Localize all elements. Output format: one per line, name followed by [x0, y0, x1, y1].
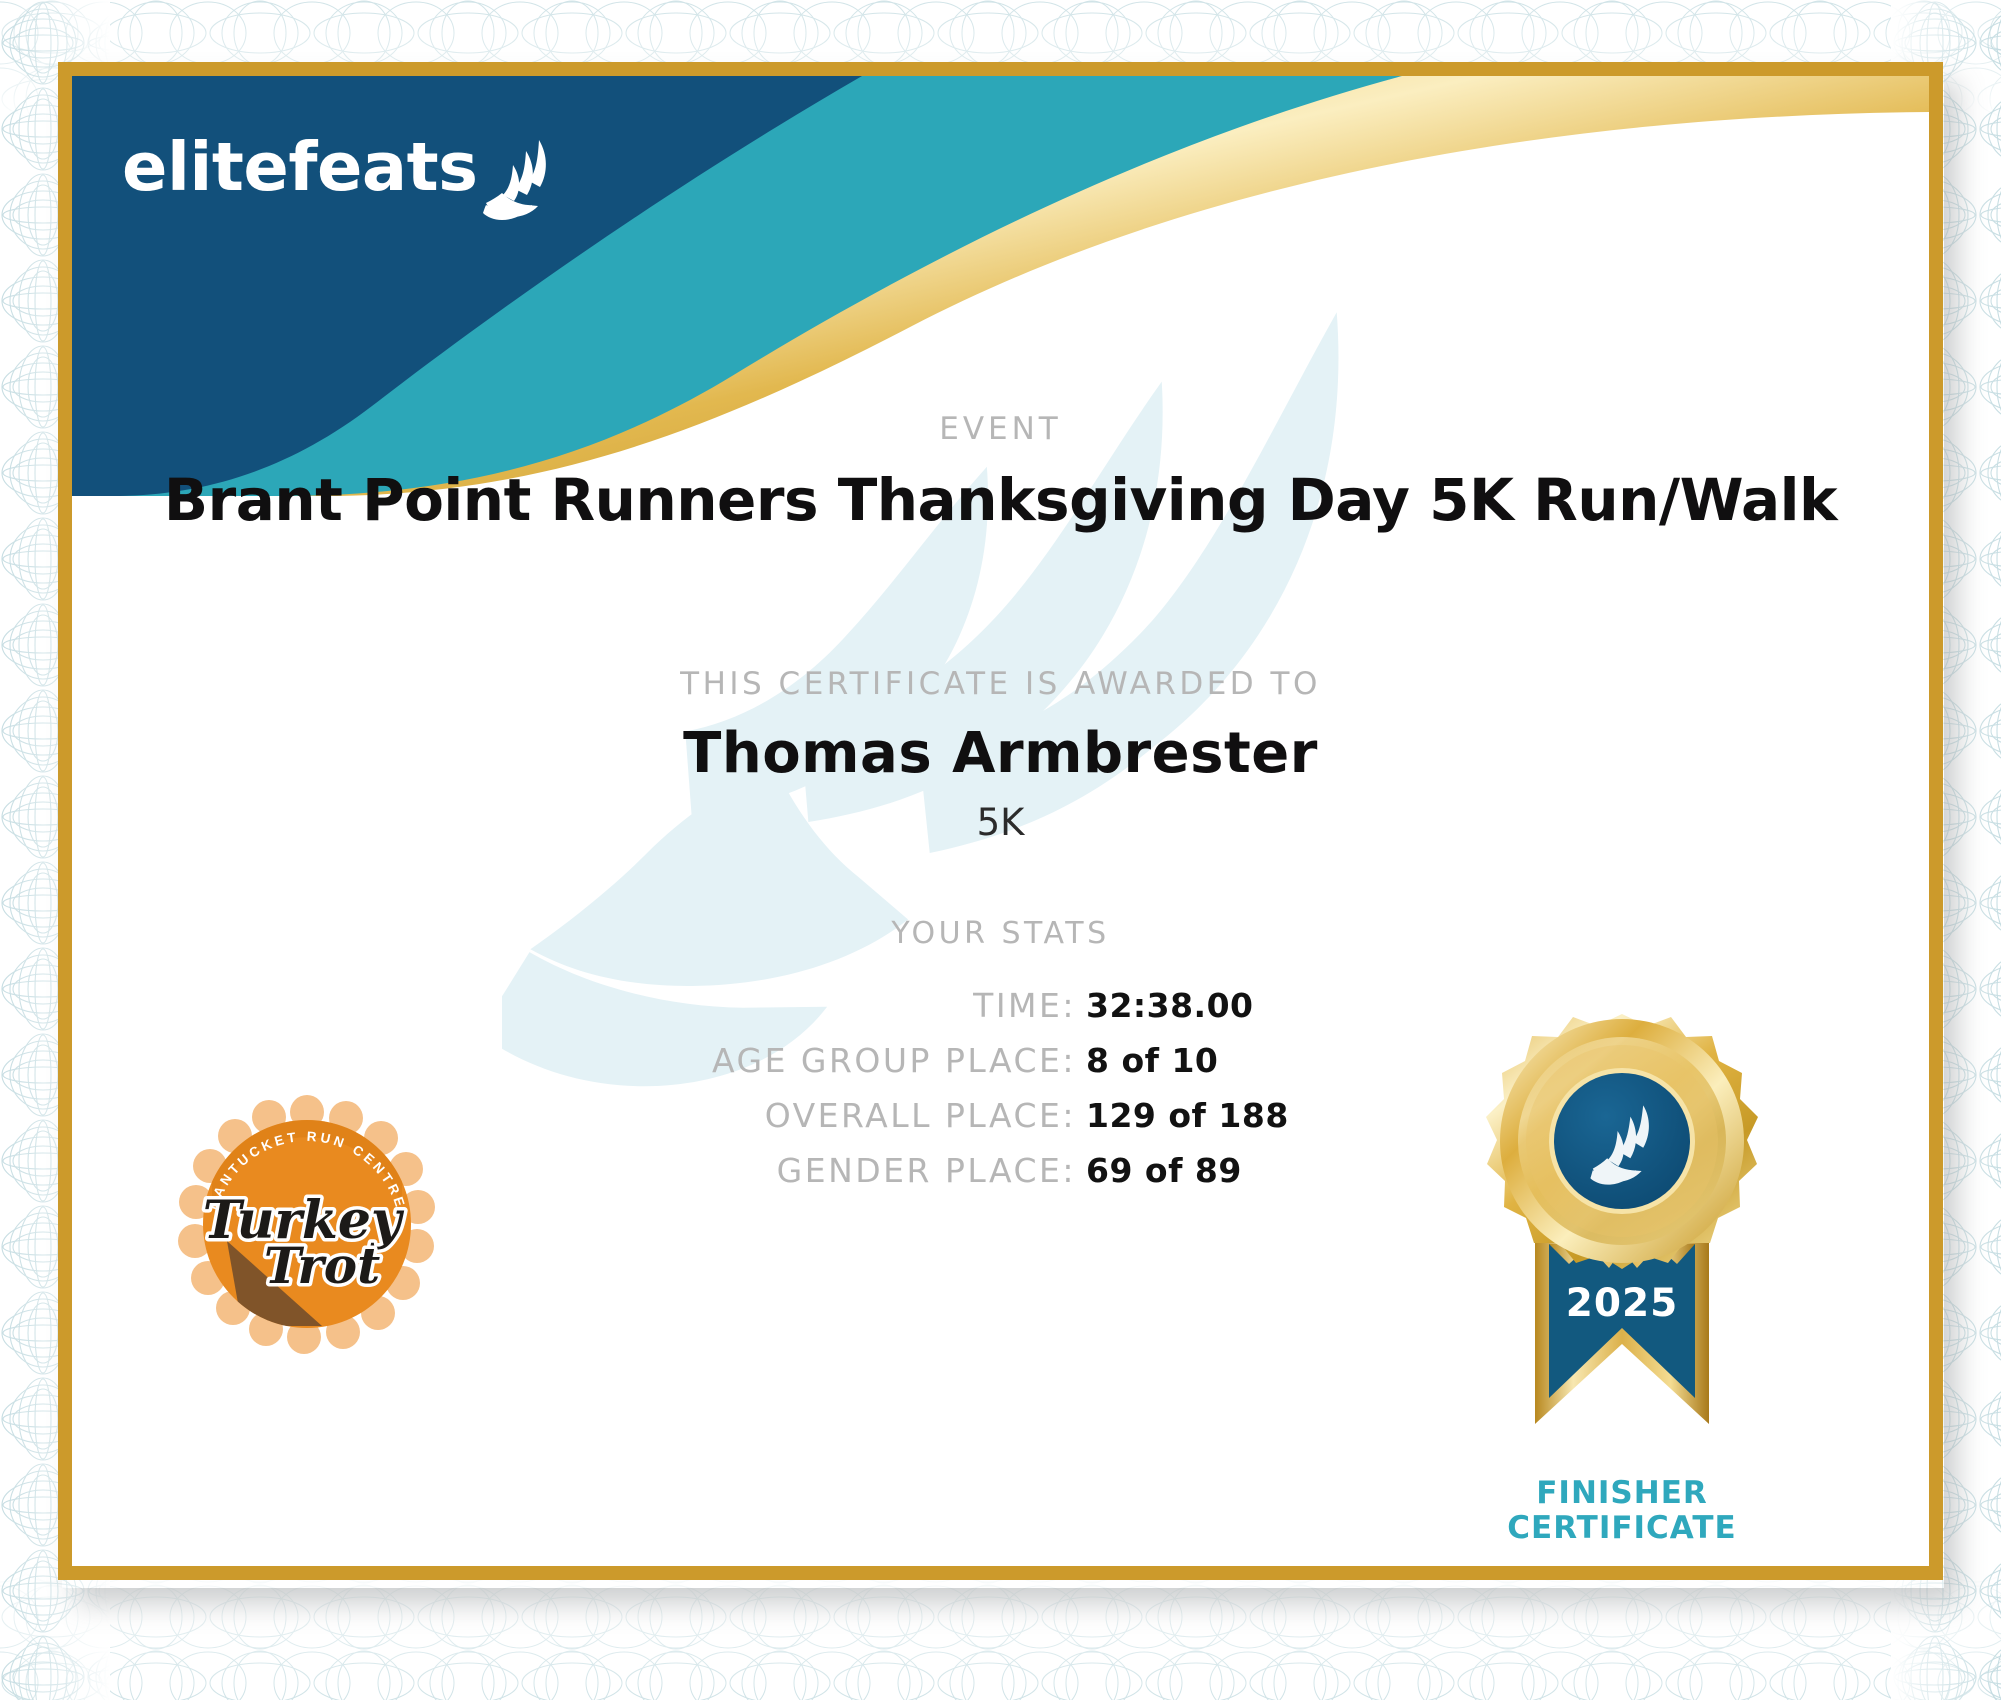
winged-foot-icon [482, 137, 564, 221]
recipient-name: Thomas Armbrester [72, 721, 1929, 786]
stat-value: 8 of 10 [1086, 1041, 1289, 1080]
stat-value: 32:38.00 [1086, 986, 1289, 1025]
stat-value: 129 of 188 [1086, 1096, 1289, 1135]
event-title: Brant Point Runners Thanksgiving Day 5K … [72, 466, 1929, 534]
finisher-caption-line2: CERTIFICATE [1432, 1511, 1812, 1546]
certificate-frame: elitefeats EVENT Brant Point Runners Tha… [58, 62, 1943, 1580]
stat-label: OVERALL PLACE: [712, 1096, 1076, 1135]
stat-label: TIME: [712, 986, 1076, 1025]
brand-logo: elitefeats [122, 134, 564, 201]
finisher-caption-line1: FINISHER [1432, 1476, 1812, 1511]
your-stats-label: YOUR STATS [72, 916, 1929, 951]
event-label: EVENT [72, 411, 1929, 447]
race-distance: 5K [72, 801, 1929, 844]
medal-year: 2025 [1566, 1281, 1679, 1326]
stat-label: GENDER PLACE: [712, 1151, 1076, 1190]
finisher-medal: 2025 [1457, 1006, 1787, 1486]
certificate-page: elitefeats EVENT Brant Point Runners Tha… [0, 0, 2001, 1700]
awarded-to-label: THIS CERTIFICATE IS AWARDED TO [72, 666, 1929, 702]
stat-value: 69 of 89 [1086, 1151, 1289, 1190]
turkey-trot-badge: NANTUCKET RUN CENTRE Turkey Turkey Trot … [172, 1086, 442, 1356]
brand-name: elitefeats [122, 134, 478, 201]
svg-text:Trot: Trot [264, 1236, 380, 1295]
finisher-caption: FINISHER CERTIFICATE [1432, 1476, 1812, 1545]
stat-label: AGE GROUP PLACE: [712, 1041, 1076, 1080]
